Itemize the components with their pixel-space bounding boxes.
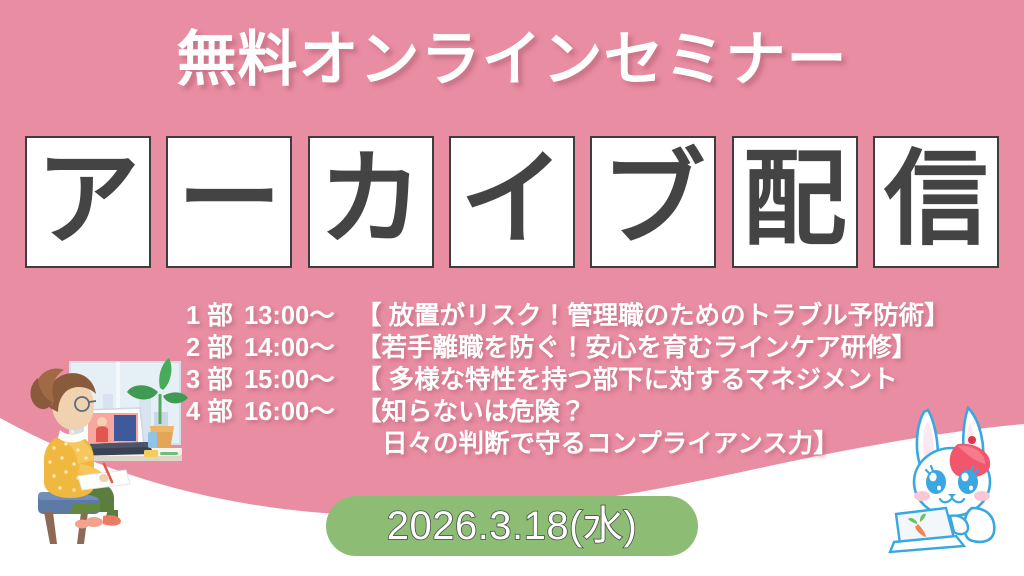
kana-char-3: カ bbox=[319, 148, 423, 252]
boxed-word-row: ア ー カ イ ブ 配 信 bbox=[25, 136, 999, 268]
schedule-time-2: 14:00〜 bbox=[244, 332, 356, 364]
kana-box-6: 配 bbox=[732, 136, 858, 268]
schedule-continuation-text: 日々の判断で守るコンプライアンス力】 bbox=[382, 428, 839, 460]
schedule-time-1: 13:00〜 bbox=[244, 300, 356, 332]
schedule-title-1: 【 放置がリスク！管理職のためのトラブル予防術】 bbox=[356, 300, 950, 332]
kana-box-2: ー bbox=[166, 136, 292, 268]
kana-char-2: ー bbox=[177, 148, 281, 252]
schedule-time-4: 16:00〜 bbox=[244, 396, 356, 428]
kana-box-3: カ bbox=[308, 136, 434, 268]
kana-char-5: ブ bbox=[601, 148, 705, 252]
schedule-title-4: 【知らないは危険？ bbox=[356, 396, 586, 428]
schedule-title-2: 【若手離職を防ぐ！安心を育むラインケア研修】 bbox=[356, 332, 917, 364]
schedule-title-3: 【 多様な特性を持つ部下に対するマネジメント bbox=[356, 364, 898, 396]
kana-box-7: 信 bbox=[873, 136, 999, 268]
schedule-row-3: 3 部15:00〜【 多様な特性を持つ部下に対するマネジメント bbox=[186, 364, 1016, 396]
kana-box-1: ア bbox=[25, 136, 151, 268]
schedule-part-1: 1 部 bbox=[186, 300, 244, 332]
seminar-poster: 無料オンラインセミナー ア ー カ イ ブ 配 信 1 部13:00〜【 放置が… bbox=[0, 0, 1024, 576]
rabbit-mascot-illustration bbox=[884, 396, 1024, 556]
woman-at-laptop-illustration bbox=[8, 352, 208, 552]
kana-box-4: イ bbox=[449, 136, 575, 268]
kana-char-4: イ bbox=[460, 148, 564, 252]
kana-box-5: ブ bbox=[590, 136, 716, 268]
date-text: 2026.3.18(水) bbox=[387, 506, 638, 546]
kana-char-6: 配 bbox=[743, 148, 847, 252]
date-badge: 2026.3.18(水) bbox=[326, 496, 698, 556]
schedule-time-3: 15:00〜 bbox=[244, 364, 356, 396]
kana-char-1: ア bbox=[36, 148, 140, 252]
kana-char-7: 信 bbox=[884, 148, 988, 252]
headline: 無料オンラインセミナー bbox=[0, 27, 1024, 93]
schedule-row-2: 2 部14:00〜【若手離職を防ぐ！安心を育むラインケア研修】 bbox=[186, 332, 1016, 364]
schedule-row-1: 1 部13:00〜【 放置がリスク！管理職のためのトラブル予防術】 bbox=[186, 300, 1016, 332]
